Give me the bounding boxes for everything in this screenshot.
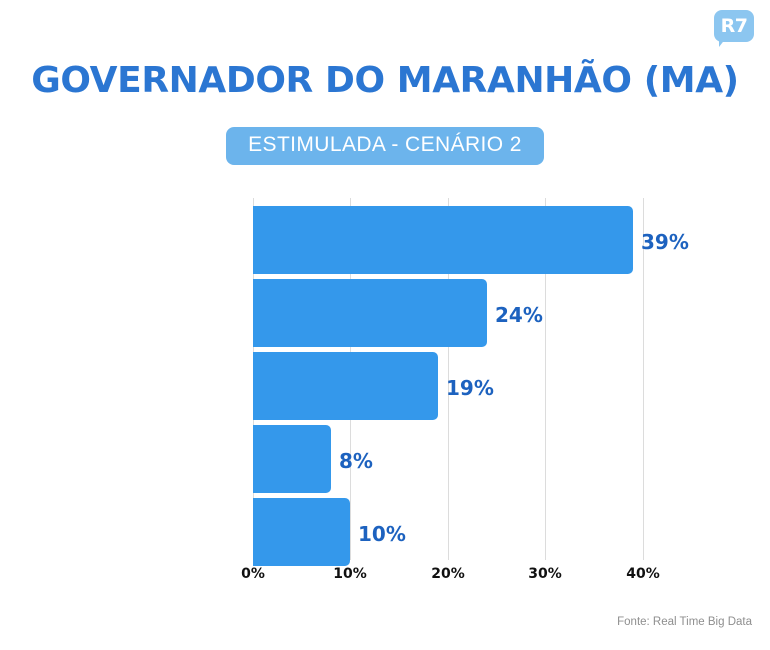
bar-value-2: 24% xyxy=(495,303,543,327)
xtick-label: 20% xyxy=(431,566,465,582)
bar-row-2 xyxy=(253,279,487,347)
xtick-label: 0% xyxy=(241,566,265,582)
bar-row-4 xyxy=(253,425,331,493)
source-credit: Fonte: Real Time Big Data xyxy=(617,616,752,628)
bar-row-5 xyxy=(253,498,350,566)
bar-row-3 xyxy=(253,352,438,420)
r7-logo: R7 xyxy=(714,10,754,48)
plot-area: Eduardo Braide (PSD) 39% Orleans Brandão… xyxy=(253,198,643,560)
xtick-label: 40% xyxy=(626,566,660,582)
xtick-label: 10% xyxy=(333,566,367,582)
bar-value-3: 19% xyxy=(446,376,494,400)
bar-chart: Eduardo Braide (PSD) 39% Orleans Brandão… xyxy=(0,190,770,590)
bar-value-1: 39% xyxy=(641,230,689,254)
bar-value-5: 10% xyxy=(358,522,406,546)
bar-value-4: 8% xyxy=(339,449,373,473)
page-title: GOVERNADOR DO MARANHÃO (MA) xyxy=(0,60,770,101)
bar-row-1 xyxy=(253,206,633,274)
subtitle-container: ESTIMULADA - CENÁRIO 2 xyxy=(0,127,770,165)
xtick-label: 30% xyxy=(528,566,562,582)
r7-logo-text: R7 xyxy=(714,10,754,42)
scenario-badge: ESTIMULADA - CENÁRIO 2 xyxy=(226,127,544,165)
